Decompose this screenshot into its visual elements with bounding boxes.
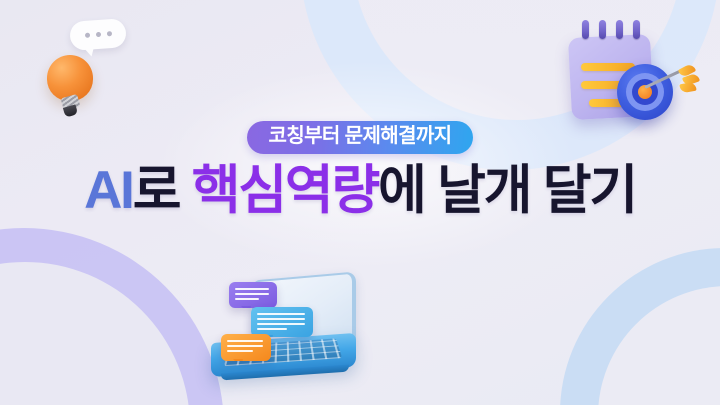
target-dartboard-icon xyxy=(617,64,673,120)
notepad-spiral-ring xyxy=(633,20,640,39)
chat-bubble-line xyxy=(227,345,263,347)
page-title: AI로 핵심역량에 날개 달기 xyxy=(0,163,720,219)
headline-part-tail: 에 날개 달기 xyxy=(378,161,636,220)
laptop-icon xyxy=(205,272,370,400)
speech-bubble-dot xyxy=(95,32,100,37)
lightbulb-base-contact xyxy=(63,104,78,117)
chat-bubble-line xyxy=(257,328,287,330)
chat-bubble-orange xyxy=(221,334,271,361)
chat-bubble-line xyxy=(235,293,269,295)
chat-bubble-line xyxy=(227,350,253,352)
headline-part-core: 핵심역량 xyxy=(192,161,378,220)
speech-bubble-icon xyxy=(69,18,127,51)
chat-bubble-line xyxy=(235,288,269,290)
chat-bubble-purple xyxy=(229,282,277,308)
notepad-spiral-ring xyxy=(616,20,623,39)
notepad-spiral-ring xyxy=(599,20,606,39)
speech-bubble-dot xyxy=(84,33,89,38)
chat-bubble-line xyxy=(227,340,263,342)
headline-part-ro: 로 xyxy=(133,161,192,220)
speech-bubble-dot xyxy=(106,31,111,36)
promo-banner: 코칭부터 문제해결까지 AI로 핵심역량에 날개 달기 xyxy=(0,0,720,405)
chat-bubble-blue xyxy=(251,307,313,337)
lightbulb-icon xyxy=(42,20,172,130)
notepad-spiral-ring xyxy=(582,20,589,39)
chat-bubble-line xyxy=(257,323,305,325)
chat-bubble-line xyxy=(257,313,305,315)
badge-tagline: 코칭부터 문제해결까지 xyxy=(247,121,474,154)
chat-bubble-line xyxy=(257,318,305,320)
chat-bubble-line xyxy=(235,298,259,300)
headline-part-ai: AI xyxy=(84,161,133,220)
arrow-fletching xyxy=(679,82,696,94)
notepad-target-illustration xyxy=(565,26,700,131)
headline-block: 코칭부터 문제해결까지 AI로 핵심역량에 날개 달기 xyxy=(0,121,720,219)
lightbulb-glass xyxy=(47,55,93,101)
